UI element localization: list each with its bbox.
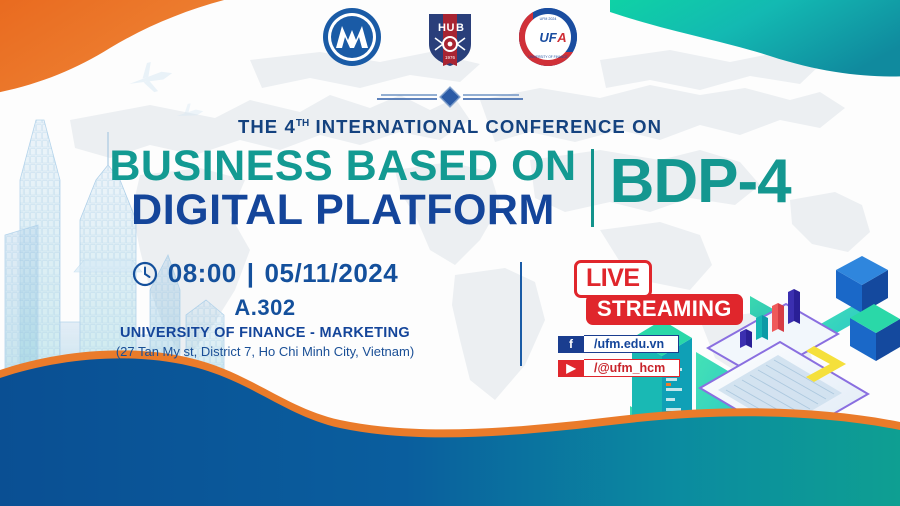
conference-poster: H U B 1976 UF A UFM 2024 UNIVERSITY OF F… — [0, 0, 900, 506]
svg-text:U: U — [447, 22, 455, 34]
conference-acronym: BDP-4 — [594, 151, 791, 213]
event-university: UNIVERSITY OF FINANCE - MARKETING — [10, 325, 520, 341]
social-link-youtube[interactable]: ▶ /@ufm_hcm — [558, 359, 900, 377]
facebook-handle: /ufm.edu.vn — [584, 335, 679, 353]
youtube-icon: ▶ — [558, 360, 584, 377]
streaming-section: LIVE STREAMING f /ufm.edu.vn ▶ /@ufm_hcm — [522, 258, 900, 383]
title-block: BUSINESS BASED ON DIGITAL PLATFORM BDP-4 — [0, 145, 900, 233]
facebook-icon: f — [558, 336, 584, 353]
kicker-suffix: INTERNATIONAL CONFERENCE ON — [309, 116, 662, 137]
svg-text:A: A — [556, 30, 566, 45]
svg-text:UFM 2024: UFM 2024 — [540, 17, 557, 21]
diamond-ornament — [0, 86, 900, 108]
details-section: 08:00 | 05/11/2024 A.302 UNIVERSITY OF F… — [0, 258, 900, 383]
svg-text:H: H — [438, 22, 446, 34]
streaming-label: STREAMING — [586, 294, 743, 325]
event-details: 08:00 | 05/11/2024 A.302 UNIVERSITY OF F… — [0, 258, 520, 383]
svg-text:1976: 1976 — [445, 55, 456, 60]
ufm-logo — [321, 6, 383, 68]
svg-text:UNIVERSITY OF FINANCE: UNIVERSITY OF FINANCE — [528, 55, 567, 59]
clock-icon — [132, 261, 158, 287]
partner-logos: H U B 1976 UF A UFM 2024 UNIVERSITY OF F… — [0, 6, 900, 68]
title-line-1: BUSINESS BASED ON — [109, 145, 576, 189]
svg-text:B: B — [456, 22, 464, 34]
event-date: 05/11/2024 — [265, 258, 399, 289]
social-link-facebook[interactable]: f /ufm.edu.vn — [558, 335, 900, 353]
title-text-group: BUSINESS BASED ON DIGITAL PLATFORM — [109, 145, 590, 233]
live-label: LIVE — [574, 260, 652, 298]
kicker-prefix: THE 4 — [238, 116, 296, 137]
svg-text:UF: UF — [539, 30, 557, 45]
event-room: A.302 — [10, 295, 520, 321]
event-address: (27 Tan My st, District 7, Ho Chi Minh C… — [10, 344, 520, 359]
datetime-separator: | — [247, 258, 255, 289]
conference-kicker: THE 4TH INTERNATIONAL CONFERENCE ON — [0, 116, 900, 138]
ufba-logo: UF A UFM 2024 UNIVERSITY OF FINANCE — [517, 6, 579, 68]
youtube-handle: /@ufm_hcm — [584, 359, 680, 377]
kicker-ordinal: TH — [296, 118, 309, 129]
social-links: f /ufm.edu.vn ▶ /@ufm_hcm — [558, 335, 900, 377]
event-time: 08:00 — [168, 258, 237, 289]
live-streaming-badge: LIVE STREAMING — [558, 260, 736, 325]
title-line-2: DIGITAL PLATFORM — [109, 189, 576, 233]
hub-logo: H U B 1976 — [419, 6, 481, 68]
event-datetime: 08:00 | 05/11/2024 — [10, 258, 520, 289]
